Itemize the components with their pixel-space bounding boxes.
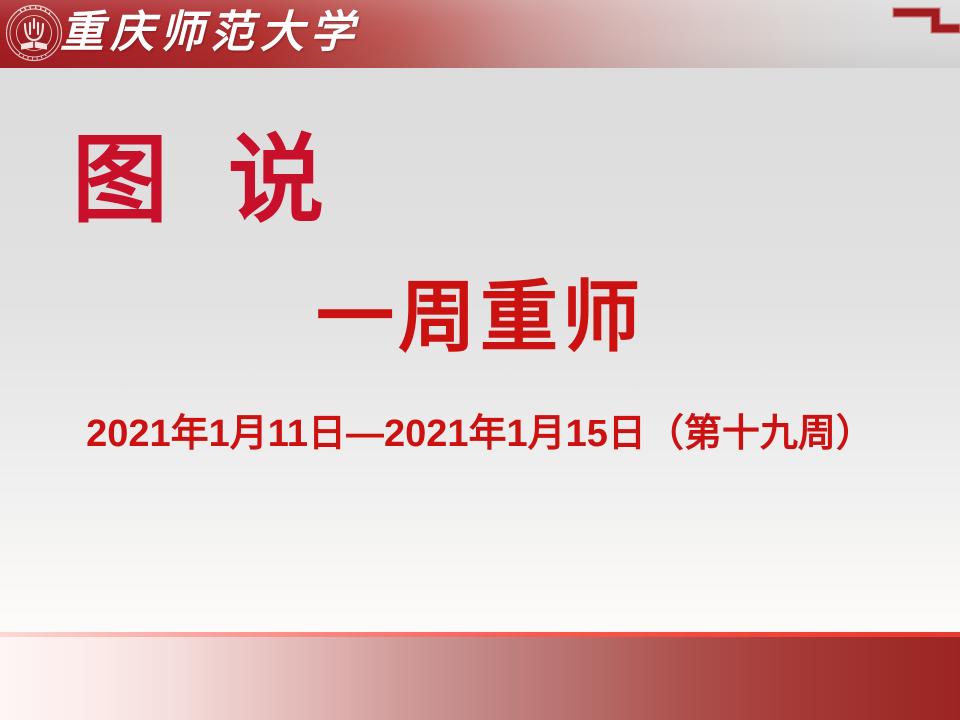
stepped-corner-ornament-top-right (888, 0, 960, 56)
header-banner: 重庆师范大学 (0, 0, 960, 68)
page-title-main: 一周重师 (0, 277, 960, 359)
university-seal-emblem (5, 4, 63, 62)
page-title-seal: 图 说 (72, 131, 342, 232)
footer-band (0, 632, 960, 720)
presentation-slide: 重庆师范大学 图 说 一周重师 2021年1月11日—2021年1月15日（第十… (0, 0, 960, 720)
footer-band-fill (0, 637, 960, 720)
university-wordmark: 重庆师范大学 (60, 3, 360, 63)
date-range-subtitle: 2021年1月11日—2021年1月15日（第十九周） (0, 412, 960, 458)
